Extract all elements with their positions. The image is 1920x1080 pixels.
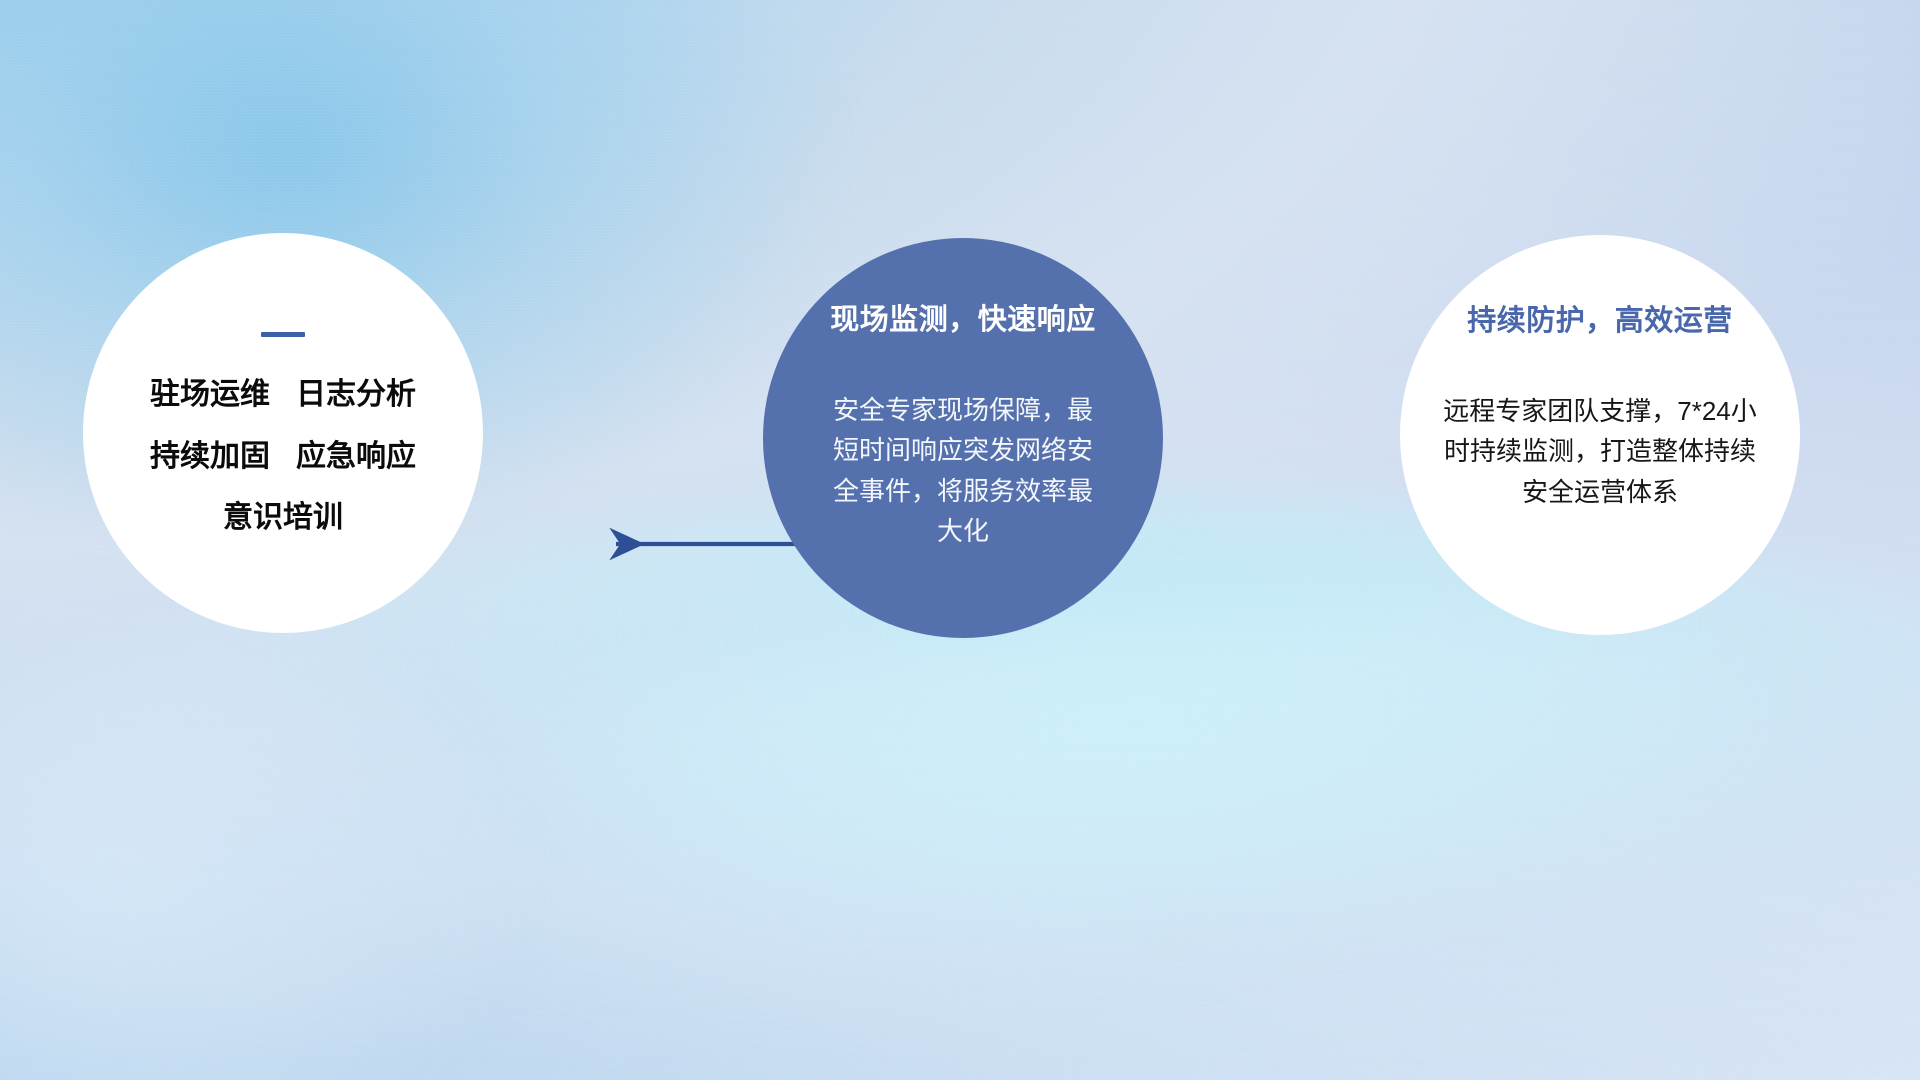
skill-tag: 日志分析	[296, 379, 416, 411]
skills-row: 持续加固 应急响应	[150, 441, 416, 473]
onsite-bubble-body: 安全专家现场保障，最短时间响应突发网络安全事件，将服务效率最大化	[828, 390, 1098, 551]
remote-bubble-title: 持续防护，高效运营	[1467, 297, 1733, 339]
skills-bubble[interactable]: 驻场运维 日志分析 持续加固 应急响应 意识培训	[83, 233, 483, 633]
remote-bubble-body: 远程专家团队支撑，7*24小时持续监测，打造整体持续安全运营体系	[1435, 391, 1765, 512]
skills-row: 驻场运维 日志分析	[150, 379, 416, 411]
onsite-monitoring-bubble[interactable]: 现场监测，快速响应 安全专家现场保障，最短时间响应突发网络安全事件，将服务效率最…	[763, 238, 1163, 638]
skills-divider-dash	[261, 332, 305, 337]
onsite-bubble-title: 现场监测，快速响应	[830, 296, 1096, 338]
slide-canvas: 驻场运维 日志分析 持续加固 应急响应 意识培训 现场监测，快速响应 安全专家现…	[0, 0, 1920, 1080]
skill-tag: 持续加固	[150, 441, 270, 473]
skill-tag: 意识培训	[223, 502, 343, 534]
skill-tag: 驻场运维	[150, 379, 270, 411]
remote-operations-bubble[interactable]: 持续防护，高效运营 远程专家团队支撑，7*24小时持续监测，打造整体持续安全运营…	[1400, 235, 1800, 635]
skills-row: 意识培训	[223, 502, 343, 534]
skill-tag: 应急响应	[296, 441, 416, 473]
